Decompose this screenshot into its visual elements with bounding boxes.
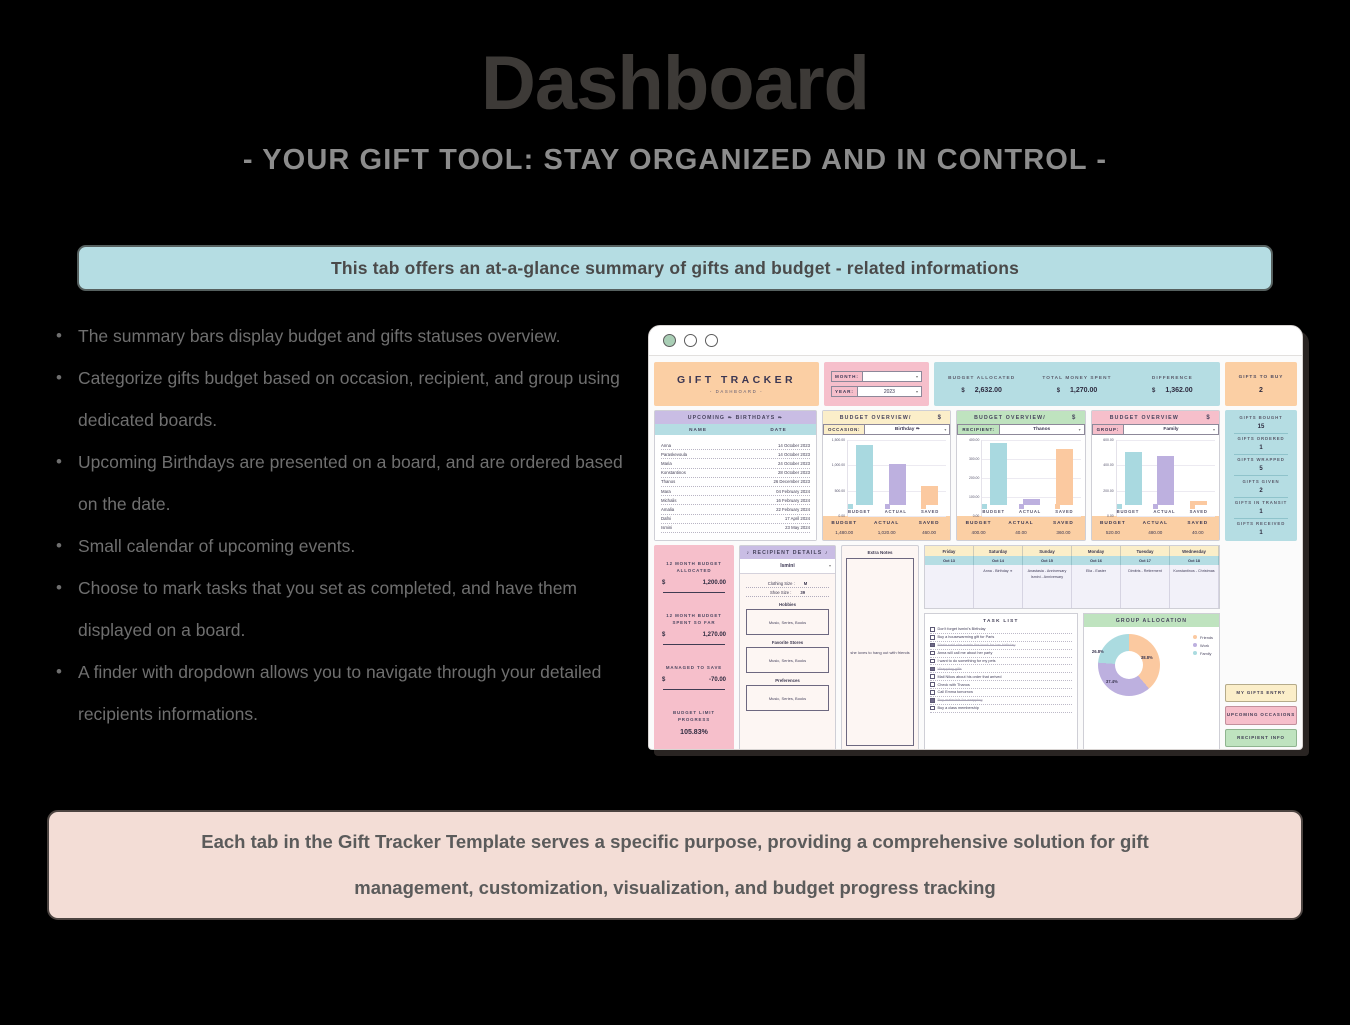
bar-budget <box>856 445 873 505</box>
task-checkbox[interactable] <box>930 635 935 640</box>
budget-spent-value: 1,270.00 <box>703 632 726 638</box>
calendar-cell[interactable] <box>925 565 974 608</box>
chevron-down-icon: ▾ <box>916 374 918 379</box>
calendar-day-name: Sunday <box>1023 546 1072 556</box>
footer-label: SAVED <box>908 520 950 525</box>
selector-dropdown[interactable]: Birthday ❧▾ <box>865 424 950 435</box>
footer-value-row: 520.00480.0040.00 <box>1092 525 1219 535</box>
gifts-to-buy-value: 2 <box>1259 387 1263 394</box>
divider <box>1234 454 1289 455</box>
chevron-down-icon: ▾ <box>916 389 918 394</box>
board-title: BUDGET OVERVIEW/ <box>823 415 928 421</box>
divider <box>1234 518 1289 519</box>
currency-symbol: $ <box>662 677 665 683</box>
selector-label: GROUP: <box>1092 424 1124 435</box>
calendar-cell[interactable]: Elia - Easter <box>1072 565 1121 608</box>
extra-notes-card: Extra Notes she loves to hang out with f… <box>841 545 919 750</box>
spacer <box>1225 545 1297 680</box>
footer-label: BUDGET <box>1092 520 1134 525</box>
footer-value-row: 400.0040.00360.00 <box>957 525 1084 535</box>
gift-status-value: 1 <box>1225 445 1297 451</box>
calendar-cell[interactable]: Konstantinos - Christmas <box>1170 565 1219 608</box>
bottom-callout-line1: Each tab in the Gift Tracker Template se… <box>201 819 1149 865</box>
year-filter-select[interactable]: 2023 ▾ <box>858 386 922 397</box>
y-axis: 1,500.001,000.00500.000.00 <box>825 440 847 516</box>
task-text: Don't forget Ismini's Birthday <box>938 627 986 631</box>
task-checkbox[interactable] <box>930 659 935 664</box>
legend-item: SAVED <box>1055 504 1080 515</box>
bullet-dot-icon: • <box>56 567 78 651</box>
footer-label: SAVED <box>1177 520 1219 525</box>
legend-swatch-icon <box>982 504 987 509</box>
birthday-row: Anna14 October 2023 <box>661 441 810 450</box>
block-value[interactable]: Music, Series, Books <box>746 647 829 673</box>
group-allocation-body: 38.8%37.4%26.8% FriendsWorkFamily <box>1084 627 1219 750</box>
calendar-event: Ismini - Anniversary <box>1025 574 1069 580</box>
bar-actual <box>889 464 906 505</box>
plot-area: BUDGETACTUALSAVED <box>1116 440 1215 516</box>
kpi-value: $1,270.00 <box>1029 387 1124 394</box>
group-allocation-chart: GROUP ALLOCATION 38.8%37.4%26.8% Friends… <box>1083 613 1220 750</box>
doughnut-chart <box>1098 634 1160 696</box>
budget-spent-value-row: $ 1,270.00 <box>659 632 729 638</box>
birthday-name: Thanos <box>661 479 737 484</box>
shoe-size-row: Shoe Size : 39 <box>746 588 829 597</box>
calendar-event-cells: Anna - Birthday ❧Anastasia - Anniversary… <box>925 565 1219 608</box>
kpi-value: $1,362.00 <box>1125 387 1220 394</box>
birthday-date: 23 May 2024 <box>737 525 810 530</box>
divider <box>1234 433 1289 434</box>
y-axis-tick: 400.00 <box>1103 463 1113 467</box>
gift-status-value: 2 <box>1225 488 1297 494</box>
legend-item: SAVED <box>921 504 946 515</box>
y-axis: 400.00300.00200.00100.000.00 <box>959 440 981 516</box>
birthday-date: 14 October 2023 <box>737 452 810 457</box>
calendar-day-name: Tuesday <box>1121 546 1170 556</box>
birthday-row: Ismini23 May 2024 <box>661 524 810 533</box>
clothing-size-label: Clothing Size : <box>768 581 795 586</box>
page-title: Dashboard <box>0 0 1350 122</box>
task-checkbox[interactable] <box>930 682 935 687</box>
gift-status-label: GIFTS BOUGHT <box>1225 415 1297 420</box>
task-item[interactable]: Buy materials for wrapping <box>930 697 1072 705</box>
birthdays-column-headers: NAME DATE <box>655 424 816 435</box>
task-item[interactable]: Anna will call me about her party <box>930 650 1072 658</box>
feature-bullet-list: •The summary bars display budget and gif… <box>56 315 626 735</box>
year-filter-value: 2023 <box>884 389 895 395</box>
kpi-value: $2,632.00 <box>934 387 1029 394</box>
footer-value: 40.00 <box>1177 530 1219 535</box>
nav-buttons-column: MY GIFTS ENTRYUPCOMING OCCASIONSRECIPIEN… <box>1225 545 1297 750</box>
currency-symbol: $ <box>1063 415 1085 421</box>
divider <box>663 689 725 690</box>
gift-status-label: GIFTS WRAPPED <box>1225 457 1297 462</box>
dashboard-top-row: GIFT TRACKER - DASHBOARD - MONTH: ▾ YEAR… <box>654 362 1297 406</box>
month-filter-label: MONTH: <box>831 371 863 382</box>
calendar-date: Oct 15 <box>1023 556 1072 565</box>
legend-swatch-icon <box>1190 504 1195 509</box>
task-checkbox[interactable] <box>930 674 935 679</box>
clothing-size-value: M <box>804 581 808 586</box>
task-text: Maria said she wants the book for her bi… <box>938 643 1016 647</box>
feature-bullet: •Choose to mark tasks that you set as co… <box>56 567 626 651</box>
legend-swatch-icon <box>1055 504 1060 509</box>
legend-swatch-icon <box>885 504 890 509</box>
bar-actual <box>1157 456 1174 505</box>
kpi-label: BUDGET ALLOCATED <box>934 375 1029 380</box>
legend-label: Family <box>1200 651 1211 656</box>
birthday-date: 04 February 2024 <box>737 489 810 494</box>
calendar-cell[interactable]: Dimitris - Retirement <box>1121 565 1170 608</box>
gift-status-value: 5 <box>1225 466 1297 472</box>
bullet-dot-icon: • <box>56 315 78 357</box>
calendar-day-name: Saturday <box>974 546 1023 556</box>
divider <box>1234 475 1289 476</box>
gift-status-value: 1 <box>1225 530 1297 536</box>
legend-item: ACTUAL <box>1019 504 1048 515</box>
block-value[interactable]: Music, Series, Books <box>746 685 829 711</box>
chevron-down-icon: ▾ <box>944 427 946 432</box>
gift-status-item: GIFTS GIVEN2 <box>1225 479 1297 498</box>
birthdays-title: UPCOMING ❧ BIRTHDAYS ❧ <box>655 411 816 424</box>
month-filter-row: MONTH: ▾ <box>831 371 922 382</box>
task-text: Buy materials for wrapping <box>938 698 983 702</box>
budget-allocated-value: 1,200.00 <box>703 580 726 586</box>
bullet-dot-icon: • <box>56 525 78 567</box>
bar-chart: 1,500.001,000.00500.000.00BUDGETACTUALSA… <box>823 435 950 516</box>
chart-legend: BUDGETACTUALSAVED <box>848 504 946 515</box>
calendar-event: Elia - Easter <box>1074 568 1118 574</box>
calendar-date: Oct 18 <box>1170 556 1219 565</box>
legend-swatch-icon <box>1193 643 1197 647</box>
birthday-date: 17 April 2024 <box>737 516 810 521</box>
task-text: Check with Thanos <box>938 683 970 687</box>
task-checkbox[interactable] <box>930 651 935 656</box>
budget-overview-board: BUDGET OVERVIEW/$RECIPIENT:Thanos▾400.00… <box>956 410 1085 541</box>
managed-to-save-value: -70.00 <box>709 677 726 683</box>
task-checkbox[interactable] <box>930 698 935 703</box>
calendar-event: Dimitris - Retirement <box>1123 568 1167 574</box>
footer-label: SAVED <box>1042 520 1084 525</box>
recipient-details-board: ♪ RECIPIENT DETAILS ♪ Ismini ▾ Clothing … <box>739 545 836 750</box>
feature-bullet: •Upcoming Birthdays are presented on a b… <box>56 441 626 525</box>
recipient-info-blocks: HobbiesMusic, Series, BooksFavorite Stor… <box>746 602 829 711</box>
gift-status-item: GIFTS WRAPPED5 <box>1225 457 1297 476</box>
y-axis-tick: 0.00 <box>973 514 980 518</box>
block-label: Hobbies <box>746 602 829 607</box>
footer-value: 40.00 <box>1000 530 1042 535</box>
gift-status-value: 1 <box>1225 509 1297 515</box>
chevron-down-icon: ▾ <box>829 563 831 568</box>
footer-label: ACTUAL <box>865 520 907 525</box>
task-text: Wrapping gifts <box>938 667 962 671</box>
recipient-selected-value: Ismini <box>780 563 794 569</box>
task-item[interactable]: Buy a class membership <box>930 705 1072 713</box>
birthday-name: Amalia <box>661 507 737 512</box>
birthday-date: 28 October 2023 <box>737 470 810 475</box>
legend-item: ACTUAL <box>1153 504 1182 515</box>
bullet-text: Choose to mark tasks that you set as com… <box>78 567 626 651</box>
calendar-cell[interactable]: Anastasia - AnniversaryIsmini - Annivers… <box>1023 565 1072 608</box>
currency-symbol: $ <box>662 632 665 638</box>
recipient-info-block: PreferencesMusic, Series, Books <box>746 678 829 711</box>
birthday-name: Maria <box>661 461 737 466</box>
task-item[interactable]: Wrapping gifts <box>930 665 1072 673</box>
budget-allocated-label: 12 MONTH BUDGET ALLOCATED <box>659 560 729 574</box>
clothing-size-row: Clothing Size : M <box>746 579 829 588</box>
bars-group <box>982 440 1080 505</box>
recipient-info-block: Favorite StoresMusic, Series, Books <box>746 640 829 673</box>
selector-dropdown[interactable]: Family▾ <box>1124 424 1219 435</box>
footer-value: 520.00 <box>1092 530 1134 535</box>
dashboard-sheet: GIFT TRACKER - DASHBOARD - MONTH: ▾ YEAR… <box>649 356 1302 750</box>
task-item[interactable]: Call Emma tomorrow <box>930 689 1072 697</box>
nav-button[interactable]: RECIPIENT INFO <box>1225 729 1297 748</box>
footer-header-row: BUDGETACTUALSAVED <box>957 520 1084 525</box>
birthday-name: Michalis <box>661 498 737 503</box>
recipient-info-block: HobbiesMusic, Series, Books <box>746 602 829 635</box>
dashboard-middle-row: UPCOMING ❧ BIRTHDAYS ❧ NAME DATE Anna14 … <box>654 410 1297 541</box>
task-item[interactable]: Mail Nikos about his order that arrived <box>930 673 1072 681</box>
bullet-dot-icon: • <box>56 357 78 441</box>
bottom-callout-line2: management, customization, visualization… <box>354 865 995 911</box>
footer-value: 1,480.00 <box>823 530 865 535</box>
year-filter-label: YEAR: <box>831 386 858 397</box>
calendar-event: Anna - Birthday ❧ <box>976 568 1020 574</box>
managed-to-save-label: MANAGED TO SAVE <box>659 664 729 671</box>
window-maximize-icon[interactable] <box>705 334 718 347</box>
bar-budget <box>1125 452 1142 505</box>
currency-symbol: $ <box>1152 388 1155 394</box>
chevron-down-icon: ▾ <box>1079 427 1081 432</box>
kpi-amount: 1,270.00 <box>1070 387 1097 394</box>
kpi-amount: 2,632.00 <box>975 387 1002 394</box>
budget-spent-label: 12 MONTH BUDGET SPENT SO FAR <box>659 612 729 626</box>
y-axis-tick: 500.00 <box>835 489 845 493</box>
calendar-day-names: FridaySaturdaySundayMondayTuesdayWednesd… <box>925 546 1219 556</box>
board-selector-row: GROUP:Family▾ <box>1092 424 1219 435</box>
slide-root: Dashboard - YOUR GIFT TOOL: STAY ORGANIZ… <box>0 0 1350 1025</box>
currency-symbol: $ <box>1197 415 1219 421</box>
calendar-dates: Oct 13Oct 14Oct 15Oct 16Oct 17Oct 18 <box>925 556 1219 565</box>
task-text: Anna will call me about her party <box>938 651 993 655</box>
kpi-card: BUDGET ALLOCATED$2,632.00 <box>934 375 1029 394</box>
birthday-name: Mara <box>661 489 737 494</box>
y-axis-tick: 300.00 <box>969 457 979 461</box>
calendar-cell[interactable]: Anna - Birthday ❧ <box>974 565 1023 608</box>
task-checkbox[interactable] <box>930 690 935 695</box>
footer-label: BUDGET <box>823 520 865 525</box>
selector-dropdown[interactable]: Thanos▾ <box>1000 424 1085 435</box>
birthday-row: Paraskevoula14 October 2023 <box>661 450 810 459</box>
feature-bullet: •The summary bars display budget and gif… <box>56 315 626 357</box>
divider <box>663 644 725 645</box>
footer-value: 1,020.00 <box>865 530 907 535</box>
bar-saved <box>921 486 938 505</box>
window-title-bar <box>649 326 1302 356</box>
birthday-name: Paraskevoula <box>661 452 737 457</box>
window-minimize-icon[interactable] <box>684 334 697 347</box>
legend-item: Family <box>1193 651 1213 656</box>
slice-label: 38.8% <box>1141 655 1153 660</box>
task-item[interactable]: I want to do something for my pets <box>930 658 1072 666</box>
budget-overview-board: BUDGET OVERVIEW$GROUP:Family▾600.00400.0… <box>1091 410 1220 541</box>
legend-label: Work <box>1200 643 1209 648</box>
top-callout-text: This tab offers an at-a-glance summary o… <box>331 258 1019 279</box>
birthday-row: Maria24 October 2023 <box>661 459 810 468</box>
footer-header-row: BUDGETACTUALSAVED <box>1092 520 1219 525</box>
upcoming-events-calendar: FridaySaturdaySundayMondayTuesdayWednesd… <box>924 545 1220 609</box>
bullet-text: A finder with dropdown allows you to nav… <box>78 651 626 735</box>
calendar-date: Oct 13 <box>925 556 974 565</box>
gift-status-item: GIFTS RECEIVED1 <box>1225 521 1297 536</box>
kpi-amount: 1,362.00 <box>1165 387 1192 394</box>
gift-status-label: GIFTS IN TRANSIT <box>1225 500 1297 505</box>
nav-button[interactable]: MY GIFTS ENTRY <box>1225 684 1297 703</box>
gift-status-label: GIFTS GIVEN <box>1225 479 1297 484</box>
birthday-row: Michalis16 February 2024 <box>661 496 810 505</box>
task-item[interactable]: Buy a housewarming gift for Paris <box>930 634 1072 642</box>
board-header: BUDGET OVERVIEW/$ <box>823 411 950 424</box>
doughnut-legend: FriendsWorkFamily <box>1193 635 1213 659</box>
task-text: I want to do something for my pets <box>938 659 996 663</box>
slice-label: 37.4% <box>1106 679 1118 684</box>
block-value[interactable]: Music, Series, Books <box>746 609 829 635</box>
birthday-row: Mara04 February 2024 <box>661 487 810 496</box>
bullet-text: The summary bars display budget and gift… <box>78 315 626 357</box>
task-text: Call Emma tomorrow <box>938 690 973 694</box>
legend-item: SAVED <box>1190 504 1215 515</box>
kpi-card: TOTAL MONEY SPENT$1,270.00 <box>1029 375 1124 394</box>
block-label: Preferences <box>746 678 829 683</box>
recipient-details-title: ♪ RECIPIENT DETAILS ♪ <box>740 546 835 559</box>
budget-overview-boards: BUDGET OVERVIEW/$OCCASION:Birthday ❧▾1,5… <box>822 410 1220 541</box>
bar-saved <box>1056 449 1073 505</box>
gift-status-item: GIFTS BOUGHT15 <box>1225 415 1297 434</box>
y-axis-tick: 200.00 <box>1103 489 1113 493</box>
board-selector-row: RECIPIENT:Thanos▾ <box>957 424 1084 435</box>
shoe-size-value: 39 <box>800 590 805 595</box>
task-text: Buy a class membership <box>938 706 979 710</box>
bullet-text: Small calendar of upcoming events. <box>78 525 626 567</box>
y-axis-tick: 1,000.00 <box>832 463 845 467</box>
tasks-and-allocation-row: TASK LIST Don't forget Ismini's Birthday… <box>924 613 1220 750</box>
task-item[interactable]: Check with Thanos <box>930 681 1072 689</box>
extra-notes-label: Extra Notes <box>846 550 914 555</box>
nav-button[interactable]: UPCOMING OCCASIONS <box>1225 706 1297 725</box>
legend-item: BUDGET <box>982 504 1012 515</box>
bar-chart: 600.00400.00200.000.00BUDGETACTUALSAVED <box>1092 435 1219 516</box>
bullet-dot-icon: • <box>56 441 78 525</box>
birthday-date: 14 October 2023 <box>737 443 810 448</box>
calendar-date: Oct 17 <box>1121 556 1170 565</box>
gift-status-item: GIFTS ORDERED1 <box>1225 436 1297 455</box>
task-item[interactable]: Don't forget Ismini's Birthday <box>930 626 1072 634</box>
task-checkbox[interactable] <box>930 627 935 632</box>
recipient-selector[interactable]: Ismini ▾ <box>740 559 835 574</box>
legend-item: ACTUAL <box>885 504 914 515</box>
y-axis-tick: 600.00 <box>1103 438 1113 442</box>
twelve-month-budget-card: 12 MONTH BUDGET ALLOCATED $ 1,200.00 12 … <box>654 545 734 750</box>
board-footer-table: BUDGETACTUALSAVED520.00480.0040.00 <box>1092 516 1219 540</box>
footer-label: BUDGET <box>957 520 999 525</box>
birthday-name: Ismini <box>661 525 737 530</box>
board-title: BUDGET OVERVIEW/ <box>957 415 1062 421</box>
birthdays-col-date: DATE <box>741 427 816 432</box>
bullet-text: Categorize gifts budget based on occasio… <box>78 357 626 441</box>
board-header: BUDGET OVERVIEW/$ <box>957 411 1084 424</box>
year-filter-row: YEAR: 2023 ▾ <box>831 386 922 397</box>
currency-symbol: $ <box>928 415 950 421</box>
calendar-and-tasks-column: FridaySaturdaySundayMondayTuesdayWednesd… <box>924 545 1220 750</box>
gridline <box>848 516 946 517</box>
birthday-date: 24 October 2023 <box>737 461 810 466</box>
footer-label: ACTUAL <box>1000 520 1042 525</box>
gift-status-item: GIFTS IN TRANSIT1 <box>1225 500 1297 519</box>
currency-symbol: $ <box>662 580 665 586</box>
feature-bullet: •Small calendar of upcoming events. <box>56 525 626 567</box>
app-logo-title: GIFT TRACKER <box>677 374 796 386</box>
task-checkbox[interactable] <box>930 643 935 648</box>
birthday-name: Anna <box>661 443 737 448</box>
kpi-label: TOTAL MONEY SPENT <box>1029 375 1124 380</box>
budget-limit-progress-value: 105.83% <box>659 729 729 736</box>
feature-bullet: •Categorize gifts budget based on occasi… <box>56 357 626 441</box>
board-header: BUDGET OVERVIEW$ <box>1092 411 1219 424</box>
birthday-row: Amalia22 February 2024 <box>661 505 810 514</box>
birthday-date: 26 December 2023 <box>737 479 810 484</box>
board-title: BUDGET OVERVIEW <box>1092 415 1197 421</box>
kpi-summary-panel: BUDGET ALLOCATED$2,632.00TOTAL MONEY SPE… <box>934 362 1220 406</box>
calendar-day-name: Monday <box>1072 546 1121 556</box>
extra-notes-value[interactable]: she loves to hang out with friends <box>846 558 914 746</box>
calendar-event: Konstantinos - Christmas <box>1172 568 1216 574</box>
legend-item: Friends <box>1193 635 1213 640</box>
y-axis-tick: 0.00 <box>838 514 845 518</box>
selector-label: OCCASION: <box>823 424 865 435</box>
kpi-label: DIFFERENCE <box>1125 375 1220 380</box>
currency-symbol: $ <box>961 388 964 394</box>
upcoming-birthdays-board: UPCOMING ❧ BIRTHDAYS ❧ NAME DATE Anna14 … <box>654 410 817 541</box>
budget-allocated-value-row: $ 1,200.00 <box>659 580 729 586</box>
legend-item: Work <box>1193 643 1213 648</box>
legend-swatch-icon <box>848 504 853 509</box>
task-text: Mail Nikos about his order that arrived <box>938 675 1002 679</box>
task-checkbox[interactable] <box>930 667 935 672</box>
dashboard-bottom-row: 12 MONTH BUDGET ALLOCATED $ 1,200.00 12 … <box>654 545 1297 750</box>
window-close-icon[interactable] <box>663 334 676 347</box>
gift-status-panel: GIFTS BOUGHT15GIFTS ORDERED1GIFTS WRAPPE… <box>1225 410 1297 541</box>
footer-label: ACTUAL <box>1134 520 1176 525</box>
task-checkbox[interactable] <box>930 706 935 711</box>
calendar-day-name: Friday <box>925 546 974 556</box>
nav-buttons: MY GIFTS ENTRYUPCOMING OCCASIONSRECIPIEN… <box>1225 684 1297 751</box>
task-list-title: TASK LIST <box>930 618 1072 623</box>
bars-group <box>1117 440 1215 505</box>
gridline <box>982 516 1080 517</box>
recipient-details-body: Clothing Size : M Shoe Size : 39 Hobbies… <box>740 574 835 750</box>
legend-swatch-icon <box>1193 635 1197 639</box>
task-item[interactable]: Maria said she wants the book for her bi… <box>930 642 1072 650</box>
app-screenshot-window: GIFT TRACKER - DASHBOARD - MONTH: ▾ YEAR… <box>648 325 1303 750</box>
chart-legend: BUDGETACTUALSAVED <box>982 504 1080 515</box>
budget-limit-progress-label: BUDGET LIMIT PROGRESS <box>659 709 729 723</box>
legend-swatch-icon <box>1117 504 1122 509</box>
gift-status-label: GIFTS RECEIVED <box>1225 521 1297 526</box>
month-filter-select[interactable]: ▾ <box>863 371 922 382</box>
task-text: Buy a housewarming gift for Paris <box>938 635 995 639</box>
y-axis-tick: 200.00 <box>969 476 979 480</box>
